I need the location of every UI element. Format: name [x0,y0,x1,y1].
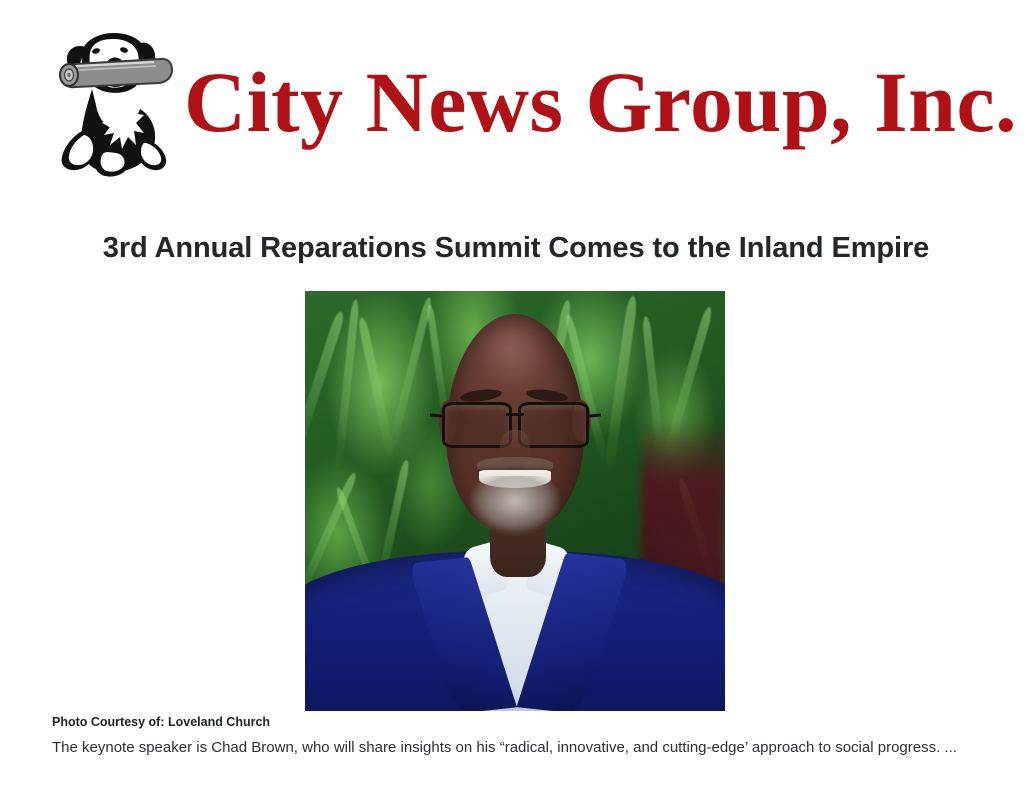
eyeglass-temple-left [430,414,442,418]
photo-credit-caption: Photo Courtesy of: Loveland Church [52,714,270,731]
portrait-subject [305,291,725,711]
portrait-photo-image [305,291,725,711]
eyeglass-bridge [506,413,524,416]
site-masthead[interactable]: City News Group, Inc. [52,22,982,182]
article-photo [305,291,725,711]
dog-with-newspaper-icon [52,27,174,177]
article-summary: The keynote speaker is Chad Brown, who w… [52,735,982,760]
goatee-beard [465,476,566,539]
article-headline[interactable]: 3rd Annual Reparations Summit Comes to t… [0,226,1032,270]
eyeglass-temple-right [588,414,600,418]
site-logo-wordmark[interactable]: City News Group, Inc. [184,59,1017,145]
article-page: City News Group, Inc. 3rd Annual Reparat… [0,0,1032,800]
